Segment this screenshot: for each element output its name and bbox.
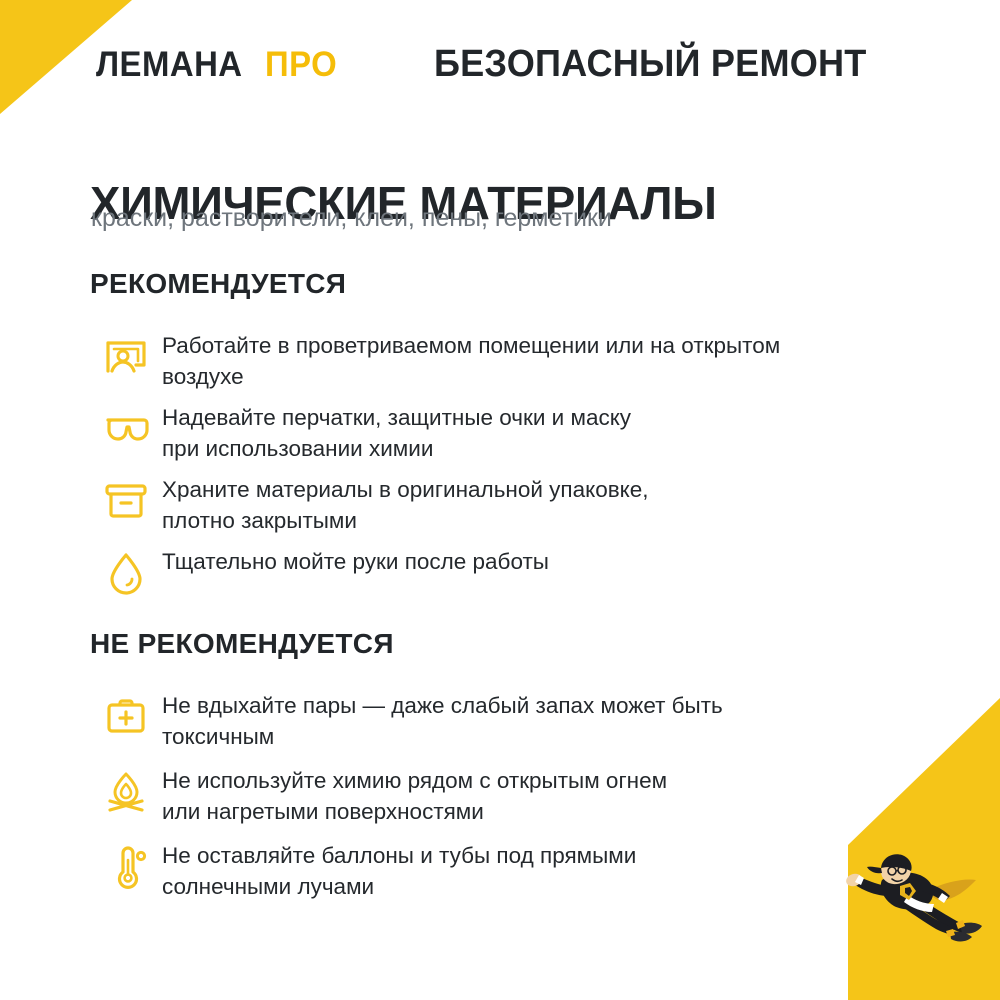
thermometer-sun-icon — [90, 836, 162, 896]
poster-header: ЛЕМАНА ПРО БЕЗОПАСНЫЙ РЕМОНТ — [0, 0, 1000, 118]
list-item-text: Не оставляйте баллоны и тубы под прямыми… — [162, 836, 862, 902]
list-item-text: Не используйте химию рядом с открытым ог… — [162, 761, 862, 827]
list-item-line1: Храните материалы в оригинальной упаковк… — [162, 477, 649, 502]
section-heading-not-recommended: НЕ РЕКОМЕНДУЕТСЯ — [90, 628, 910, 660]
brand-name-accent: ПРО — [265, 45, 337, 85]
list-item: Работайте в проветриваемом помещении или… — [90, 326, 910, 392]
list-item-line1: Надевайте перчатки, защитные очки и маск… — [162, 405, 631, 430]
campfire-icon — [90, 761, 162, 821]
list-item: Не используйте химию рядом с открытым ог… — [90, 761, 910, 827]
list-item-line2: при использовании химии — [162, 433, 862, 464]
list-item-line1: Не используйте химию рядом с открытым ог… — [162, 768, 667, 793]
list-item-text: Не вдыхайте пары — даже слабый запах мож… — [162, 686, 862, 752]
list-item-line2: плотно закрытыми — [162, 505, 862, 536]
safety-goggles-icon — [90, 398, 162, 458]
list-item-line1: Тщательно мойте руки после работы — [162, 549, 549, 574]
list-item-text: Храните материалы в оригинальной упаковк… — [162, 470, 862, 536]
ventilated-room-icon — [90, 326, 162, 386]
water-drop-icon — [90, 542, 162, 602]
list-item-text: Надевайте перчатки, защитные очки и маск… — [162, 398, 862, 464]
list-item-text: Тщательно мойте руки после работы — [162, 542, 862, 577]
list-item: Не оставляйте баллоны и тубы под прямыми… — [90, 836, 910, 902]
list-item-line1: Не вдыхайте пары — даже слабый запах мож… — [162, 693, 723, 718]
brand-logo: ЛЕМАНА ПРО — [96, 45, 342, 85]
list-item: Храните материалы в оригинальной упаковк… — [90, 470, 910, 536]
list-item-line2: или нагретыми поверхностями — [162, 796, 862, 827]
page-subtitle: краски, растворители, клеи, пены, гермет… — [91, 204, 612, 233]
list-item-line2: токсичным — [162, 721, 862, 752]
list-item-line2: воздухе — [162, 361, 862, 392]
not-recommended-item-list: Не вдыхайте пары — даже слабый запах мож… — [90, 686, 910, 902]
list-item: Не вдыхайте пары — даже слабый запах мож… — [90, 686, 910, 752]
list-item-text: Работайте в проветриваемом помещении или… — [162, 326, 862, 392]
first-aid-kit-icon — [90, 686, 162, 746]
list-item: Надевайте перчатки, защитные очки и маск… — [90, 398, 910, 464]
mascot-flying-superhero-icon — [842, 838, 992, 958]
section-not-recommended: НЕ РЕКОМЕНДУЕТСЯ Не вдыхайте пары — даже… — [90, 628, 910, 911]
section-heading-recommended: РЕКОМЕНДУЕТСЯ — [90, 268, 910, 300]
brand-name: ЛЕМАНА — [96, 45, 243, 85]
storage-box-icon — [90, 470, 162, 530]
list-item-line2: солнечными лучами — [162, 871, 862, 902]
list-item-line1: Не оставляйте баллоны и тубы под прямыми — [162, 843, 636, 868]
list-item: Тщательно мойте руки после работы — [90, 542, 910, 602]
list-item-line1: Работайте в проветриваемом помещении или… — [162, 333, 780, 358]
section-recommended: РЕКОМЕНДУЕТСЯ Работайте в проветриваемом… — [90, 268, 910, 602]
poster-root: ЛЕМАНА ПРО БЕЗОПАСНЫЙ РЕМОНТ ХИМИЧЕСКИЕ … — [0, 0, 1000, 1000]
campaign-title: БЕЗОПАСНЫЙ РЕМОНТ — [434, 43, 866, 86]
recommended-item-list: Работайте в проветриваемом помещении или… — [90, 326, 910, 602]
